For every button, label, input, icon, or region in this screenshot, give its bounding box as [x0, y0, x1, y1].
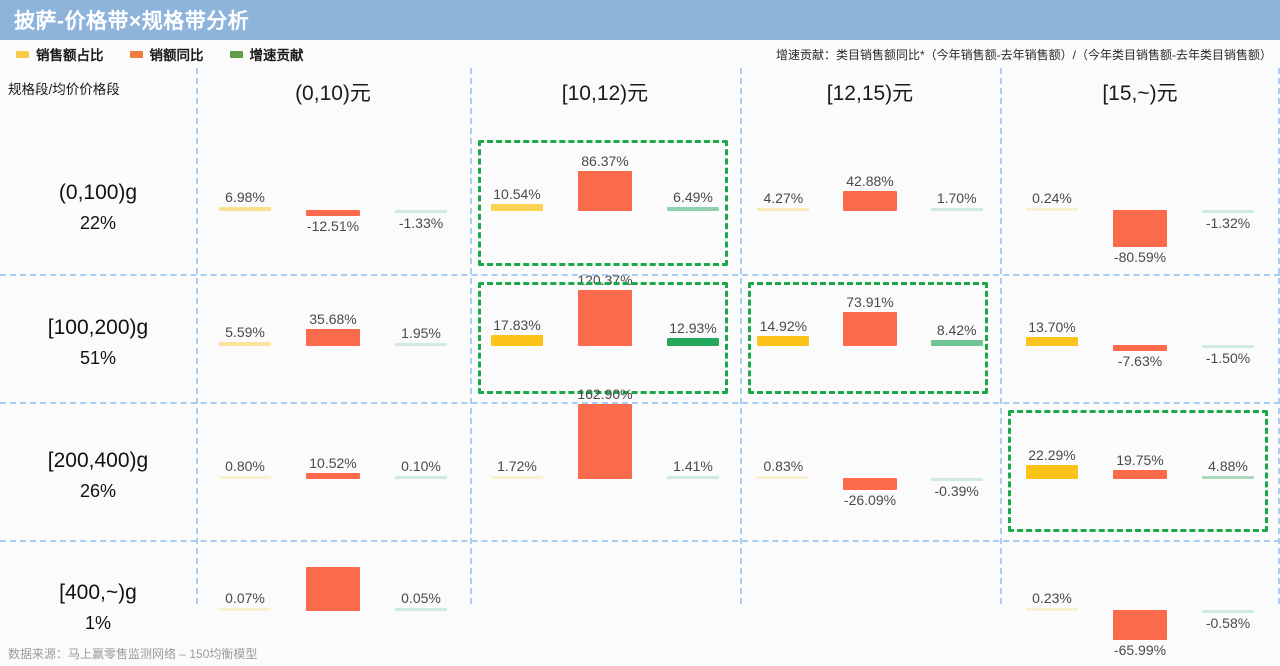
contrib-bar [931, 478, 983, 481]
bar-group: 0.07%0.05% [196, 610, 470, 611]
yoy-bar-label: -65.99% [1114, 642, 1166, 658]
legend-label-share: 销售额占比 [36, 44, 104, 64]
bar-group: 1.72%162.90%1.41% [470, 478, 740, 479]
yoy-bar [843, 312, 897, 346]
bar-slot-contrib: 1.70% [913, 210, 1000, 211]
yoy-bar [306, 329, 360, 345]
bar-slot-yoy [289, 610, 377, 611]
bar-slot-yoy: -26.09% [827, 478, 914, 479]
bar-slot-contrib: 0.10% [377, 478, 465, 479]
row-header-label: [200,400)g [48, 449, 148, 473]
cell-inner: 10.54%86.37%6.49% [470, 136, 740, 278]
yoy-bar [843, 191, 897, 211]
bar-slot-yoy: 73.91% [827, 345, 914, 346]
row-total-label: 51% [80, 348, 116, 369]
yoy-bar-label: 42.88% [846, 173, 893, 189]
contrib-bar [667, 207, 719, 211]
bar-slot-share: 17.83% [473, 345, 561, 346]
yoy-bar [1113, 345, 1167, 351]
cell-inner: 6.98%-12.51%-1.33% [196, 136, 470, 278]
bar-slot-yoy: 35.68% [289, 345, 377, 346]
source-footnote: 数据来源：马上赢零售监测网络 – 150均衡模型 [8, 645, 257, 662]
share-bar-label: 10.54% [493, 186, 540, 202]
share-bar [491, 204, 543, 211]
cell-inner: 22.29%19.75%4.88% [1000, 406, 1280, 544]
bar-slot-share: 0.24% [1008, 210, 1096, 211]
share-bar [491, 476, 543, 479]
share-bar [757, 208, 809, 211]
bar-slot-contrib: 6.49% [649, 210, 737, 211]
cell-inner: 4.27%42.88%1.70% [740, 136, 1000, 278]
share-bar-label: 6.98% [225, 189, 265, 205]
bar-slot-share: 0.83% [740, 478, 827, 479]
contrib-bar [395, 608, 447, 611]
yoy-bar-label: 86.37% [581, 153, 628, 169]
bar-group: 22.29%19.75%4.88% [1000, 478, 1280, 479]
row-total-label: 1% [85, 613, 111, 634]
cell-inner: 1.72%162.90%1.41% [470, 406, 740, 544]
contrib-bar-label: 1.70% [937, 190, 977, 206]
matrix-cell-r0-c3: 0.24%-80.59%-1.32% [1000, 136, 1280, 278]
contrib-bar-label: 1.41% [673, 458, 713, 474]
column-header-2: [12,15)元 [740, 72, 1000, 112]
matrix-cell-r1-c2: 14.92%73.91%8.42% [740, 278, 1000, 406]
bar-slot-yoy: 42.88% [827, 210, 914, 211]
yoy-bar [1113, 470, 1167, 479]
page-title: 披萨-价格带×规格带分析 [14, 5, 249, 35]
contrib-bar [931, 208, 983, 211]
bar-slot-share: 6.98% [201, 210, 289, 211]
bar-group: 0.23%-65.99%-0.58% [1000, 610, 1280, 611]
yoy-bar-label: 10.52% [309, 455, 356, 471]
share-bar-label: 22.29% [1028, 447, 1075, 463]
bar-slot-yoy: -7.63% [1096, 345, 1184, 346]
bar-slot-contrib: 1.41% [649, 478, 737, 479]
matrix-cell-r0-c0: 6.98%-12.51%-1.33% [196, 136, 470, 278]
yoy-bar [306, 473, 360, 479]
share-bar [219, 342, 271, 345]
cell-inner: 0.24%-80.59%-1.32% [1000, 136, 1280, 278]
legend-label-contrib: 增速贡献 [250, 44, 304, 64]
bar-group: 5.59%35.68%1.95% [196, 345, 470, 346]
yoy-bar-label: 35.68% [309, 311, 356, 327]
share-bar-label: 0.24% [1032, 190, 1072, 206]
contrib-bar-label: -0.58% [1206, 615, 1250, 631]
share-bar-label: 4.27% [763, 190, 803, 206]
contrib-bar [1202, 476, 1254, 479]
contrib-bar-label: 12.93% [669, 320, 716, 336]
matrix-cell-r0-c2: 4.27%42.88%1.70% [740, 136, 1000, 278]
cell-inner: 0.80%10.52%0.10% [196, 406, 470, 544]
bar-slot-share: 1.72% [473, 478, 561, 479]
bar-group: 4.27%42.88%1.70% [740, 210, 1000, 211]
bar-group: 14.92%73.91%8.42% [740, 345, 1000, 346]
yoy-bar [578, 290, 632, 345]
yoy-bar-label: 73.91% [846, 294, 893, 310]
matrix-cell-r3-c3: 0.23%-65.99%-0.58% [1000, 544, 1280, 666]
share-bar [1026, 608, 1078, 611]
yoy-bar-label: -26.09% [844, 492, 896, 508]
bar-slot-yoy: 19.75% [1096, 478, 1184, 479]
contrib-bar [667, 338, 719, 346]
bar-slot-share: 4.27% [740, 210, 827, 211]
column-header-1: [10,12)元 [470, 72, 740, 112]
cell-inner: 0.83%-26.09%-0.39% [740, 406, 1000, 544]
matrix-cell-r2-c2: 0.83%-26.09%-0.39% [740, 406, 1000, 544]
matrix-cell-r2-c3: 22.29%19.75%4.88% [1000, 406, 1280, 544]
bar-slot-contrib: -1.50% [1184, 345, 1272, 346]
yoy-bar [306, 567, 360, 611]
contrib-bar-label: -1.32% [1206, 215, 1250, 231]
yoy-bar-label: 162.90% [577, 386, 632, 402]
share-bar-label: 0.23% [1032, 590, 1072, 606]
bar-slot-share: 22.29% [1008, 478, 1096, 479]
bar-slot-contrib: 0.05% [377, 610, 465, 611]
bar-group: 10.54%86.37%6.49% [470, 210, 740, 211]
contrib-bar [395, 210, 447, 213]
bar-slot-yoy: -65.99% [1096, 610, 1184, 611]
bar-group: 0.83%-26.09%-0.39% [740, 478, 1000, 479]
row-total-label: 22% [80, 213, 116, 234]
contrib-bar [931, 340, 983, 345]
matrix-cell-r0-c1: 10.54%86.37%6.49% [470, 136, 740, 278]
yoy-bar-label: -7.63% [1118, 353, 1162, 369]
row-header-2: [200,400)g26% [0, 406, 196, 544]
bar-slot-yoy: -80.59% [1096, 210, 1184, 211]
contrib-bar-label: 8.42% [937, 322, 977, 338]
column-header-3: [15,~)元 [1000, 72, 1280, 112]
bar-group: 13.70%-7.63%-1.50% [1000, 345, 1280, 346]
share-bar-label: 14.92% [760, 318, 807, 334]
share-bar [757, 336, 809, 345]
column-header-0: (0,10)元 [196, 72, 470, 112]
yoy-bar [578, 171, 632, 211]
bar-slot-share: 5.59% [201, 345, 289, 346]
contrib-bar [1202, 210, 1254, 213]
bar-group: 0.80%10.52%0.10% [196, 478, 470, 479]
bar-slot-contrib: -0.58% [1184, 610, 1272, 611]
yoy-bar [843, 478, 897, 490]
legend: 销售额占比 销额同比 增速贡献 [0, 44, 304, 64]
row-total-label: 26% [80, 481, 116, 502]
legend-item-yoy[interactable]: 销额同比 [130, 44, 204, 64]
row-header-label: (0,100)g [59, 181, 137, 205]
matrix-grid: 规格段/均价价格段 (0,10)元13%[10,12)元30%[12,15)元2… [0, 68, 1280, 628]
yoy-bar [1113, 610, 1167, 640]
yoy-bar [1113, 210, 1167, 247]
column-header-label: [10,12)元 [562, 77, 648, 107]
bar-slot-contrib: 4.88% [1184, 478, 1272, 479]
contrib-bar [1202, 345, 1254, 348]
legend-label-yoy: 销额同比 [150, 44, 204, 64]
bar-slot-contrib: 12.93% [649, 345, 737, 346]
share-bar [219, 608, 271, 611]
contrib-bar-label: 4.88% [1208, 458, 1248, 474]
contrib-bar [667, 476, 719, 479]
contrib-bar-label: -1.33% [399, 215, 443, 231]
row-header-0: (0,100)g22% [0, 136, 196, 278]
bar-slot-share: 0.80% [201, 478, 289, 479]
contrib-bar-label: -1.50% [1206, 350, 1250, 366]
yoy-bar [306, 210, 360, 216]
legend-item-contrib[interactable]: 增速贡献 [230, 44, 304, 64]
matrix-cell-r1-c3: 13.70%-7.63%-1.50% [1000, 278, 1280, 406]
square-swatch-icon [16, 51, 29, 58]
title-bar: 披萨-价格带×规格带分析 [0, 0, 1280, 40]
yoy-bar-label: -80.59% [1114, 249, 1166, 265]
yoy-bar-label: -12.51% [307, 218, 359, 234]
share-bar-label: 1.72% [497, 458, 537, 474]
bar-slot-share: 0.23% [1008, 610, 1096, 611]
column-header-label: [12,15)元 [827, 77, 913, 107]
bar-slot-yoy: 86.37% [561, 210, 649, 211]
share-bar [1026, 208, 1078, 211]
cell-inner: 5.59%35.68%1.95% [196, 278, 470, 406]
bar-slot-contrib: -1.33% [377, 210, 465, 211]
column-header-label: (0,10)元 [295, 77, 371, 107]
share-bar [1026, 465, 1078, 479]
bar-slot-yoy: -12.51% [289, 210, 377, 211]
contrib-bar-label: 6.49% [673, 189, 713, 205]
bar-group: 6.98%-12.51%-1.33% [196, 210, 470, 211]
cell-inner: 14.92%73.91%8.42% [740, 278, 1000, 406]
bar-slot-contrib: 8.42% [913, 345, 1000, 346]
bar-slot-yoy: 120.37% [561, 345, 649, 346]
share-bar-label: 0.83% [763, 458, 803, 474]
yoy-bar-label: 19.75% [1116, 452, 1163, 468]
square-swatch-icon [230, 51, 243, 58]
row-header-1: [100,200)g51% [0, 278, 196, 406]
legend-strip: 销售额占比 销额同比 增速贡献 增速贡献：类目销售额同比*（今年销售额-去年销售… [0, 40, 1280, 68]
share-bar-label: 13.70% [1028, 319, 1075, 335]
contrib-bar-label: 1.95% [401, 325, 441, 341]
share-bar-label: 0.07% [225, 590, 265, 606]
bar-slot-share: 0.07% [201, 610, 289, 611]
bar-slot-contrib: 1.95% [377, 345, 465, 346]
share-bar [219, 207, 271, 211]
share-bar [757, 476, 809, 479]
cell-inner: 0.23%-65.99%-0.58% [1000, 544, 1280, 666]
contrib-bar [395, 343, 447, 346]
matrix-cell-r2-c1: 1.72%162.90%1.41% [470, 406, 740, 544]
legend-item-share[interactable]: 销售额占比 [16, 44, 104, 64]
row-header-label: [400,~)g [59, 581, 137, 605]
share-bar-label: 17.83% [493, 317, 540, 333]
axis-corner-label: 规格段/均价价格段 [8, 78, 120, 98]
contrib-bar [1202, 610, 1254, 613]
formula-note: 增速贡献：类目销售额同比*（今年销售额-去年销售额）/（今年类目销售额-去年类目… [776, 46, 1272, 63]
bar-slot-share: 14.92% [740, 345, 827, 346]
bar-slot-contrib: -0.39% [913, 478, 1000, 479]
square-swatch-icon [130, 51, 143, 58]
bar-slot-contrib: -1.32% [1184, 210, 1272, 211]
share-bar [219, 476, 271, 479]
bar-slot-yoy: 10.52% [289, 478, 377, 479]
share-bar [1026, 337, 1078, 345]
bar-group: 17.83%120.37%12.93% [470, 345, 740, 346]
bar-slot-yoy: 162.90% [561, 478, 649, 479]
matrix-cell-r3-c1 [470, 544, 740, 666]
contrib-bar-label: 0.10% [401, 458, 441, 474]
contrib-bar [395, 476, 447, 479]
bar-group: 0.24%-80.59%-1.32% [1000, 210, 1280, 211]
cell-inner: 13.70%-7.63%-1.50% [1000, 278, 1280, 406]
share-bar-label: 5.59% [225, 324, 265, 340]
bar-slot-share: 10.54% [473, 210, 561, 211]
yoy-bar-label: 120.37% [577, 272, 632, 288]
bar-slot-share: 13.70% [1008, 345, 1096, 346]
contrib-bar-label: 0.05% [401, 590, 441, 606]
matrix-cell-r1-c0: 5.59%35.68%1.95% [196, 278, 470, 406]
matrix-cell-r3-c2 [740, 544, 1000, 666]
matrix-cell-r2-c0: 0.80%10.52%0.10% [196, 406, 470, 544]
contrib-bar-label: -0.39% [934, 483, 978, 499]
column-header-label: [15,~)元 [1102, 77, 1177, 107]
row-header-label: [100,200)g [48, 316, 148, 340]
share-bar [491, 335, 543, 346]
share-bar-label: 0.80% [225, 458, 265, 474]
yoy-bar [578, 404, 632, 479]
